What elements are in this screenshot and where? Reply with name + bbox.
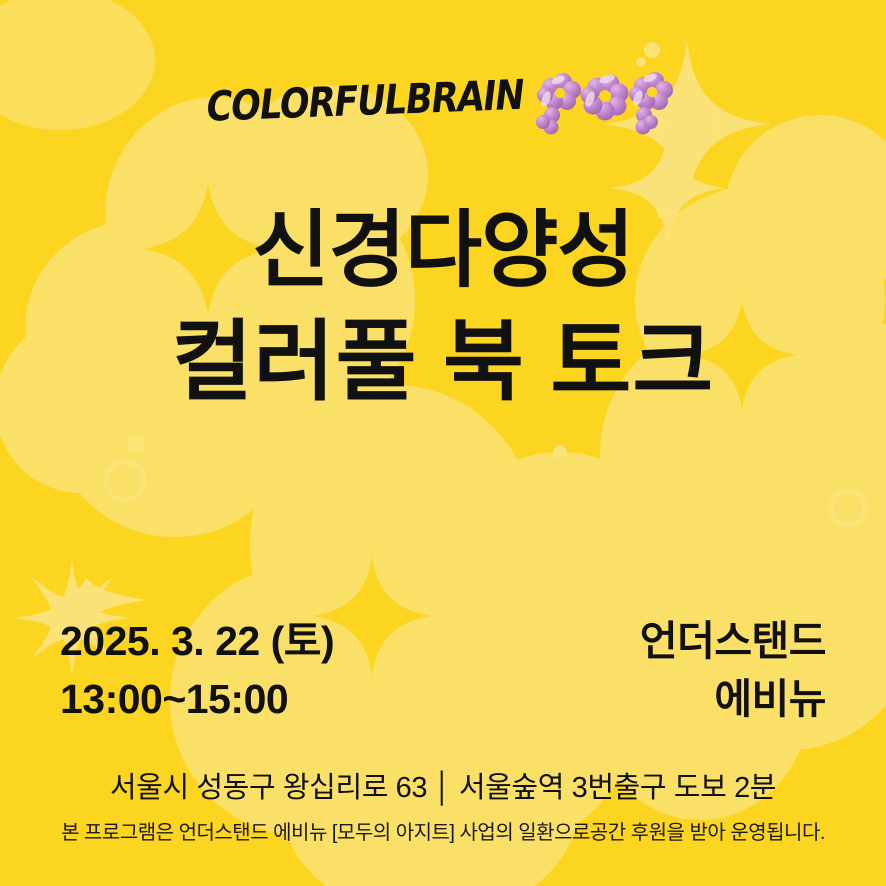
sponsor-footnote: 본 프로그램은 언더스탠드 에비뉴 [모두의 아지트] 사업의 일환으로공간 후… xyxy=(0,816,886,845)
event-datetime: 2025. 3. 22 (토) 13:00~15:00 xyxy=(60,612,334,728)
address-transit: 서울숲역 3번출구 도보 2분 xyxy=(459,772,776,804)
pop-hole-p2 xyxy=(646,87,656,97)
poster-canvas: COLORFULBRAIN xyxy=(0,0,886,886)
event-date: 2025. 3. 22 (토) xyxy=(60,612,334,670)
event-venue: 언더스탠드 에비뉴 xyxy=(640,612,826,728)
ring-outline-left xyxy=(106,462,144,500)
dot-center-a xyxy=(553,445,567,459)
logo-wordmark: COLORFULBRAIN xyxy=(204,75,526,128)
logo-pop-balloons xyxy=(529,65,679,141)
venue-address: 서울시 성동구 왕십리로 63│서울숲역 3번출구 도보 2분 xyxy=(0,764,886,806)
title-line-1: 신경다양성 xyxy=(0,196,886,305)
venue-line-1: 언더스탠드 xyxy=(640,612,826,670)
dot-left-small xyxy=(128,436,144,452)
ring-outline-right xyxy=(831,491,865,525)
title-line-2: 컬러풀 북 토크 xyxy=(0,305,886,419)
event-info-band: 2025. 3. 22 (토) 13:00~15:00 언더스탠드 에비뉴 xyxy=(60,612,826,728)
pop-hole-p1 xyxy=(554,88,564,98)
address-separator: │ xyxy=(427,772,459,804)
address-street: 서울시 성동구 왕십리로 63 xyxy=(110,772,427,804)
venue-line-2: 에비뉴 xyxy=(640,670,826,728)
page-title: 신경다양성 컬러풀 북 토크 xyxy=(0,196,886,420)
logo-lockup: COLORFULBRAIN xyxy=(0,62,886,142)
pop-hole-o xyxy=(599,90,611,102)
event-time: 13:00~15:00 xyxy=(60,670,334,728)
dot-top-a xyxy=(644,42,660,58)
